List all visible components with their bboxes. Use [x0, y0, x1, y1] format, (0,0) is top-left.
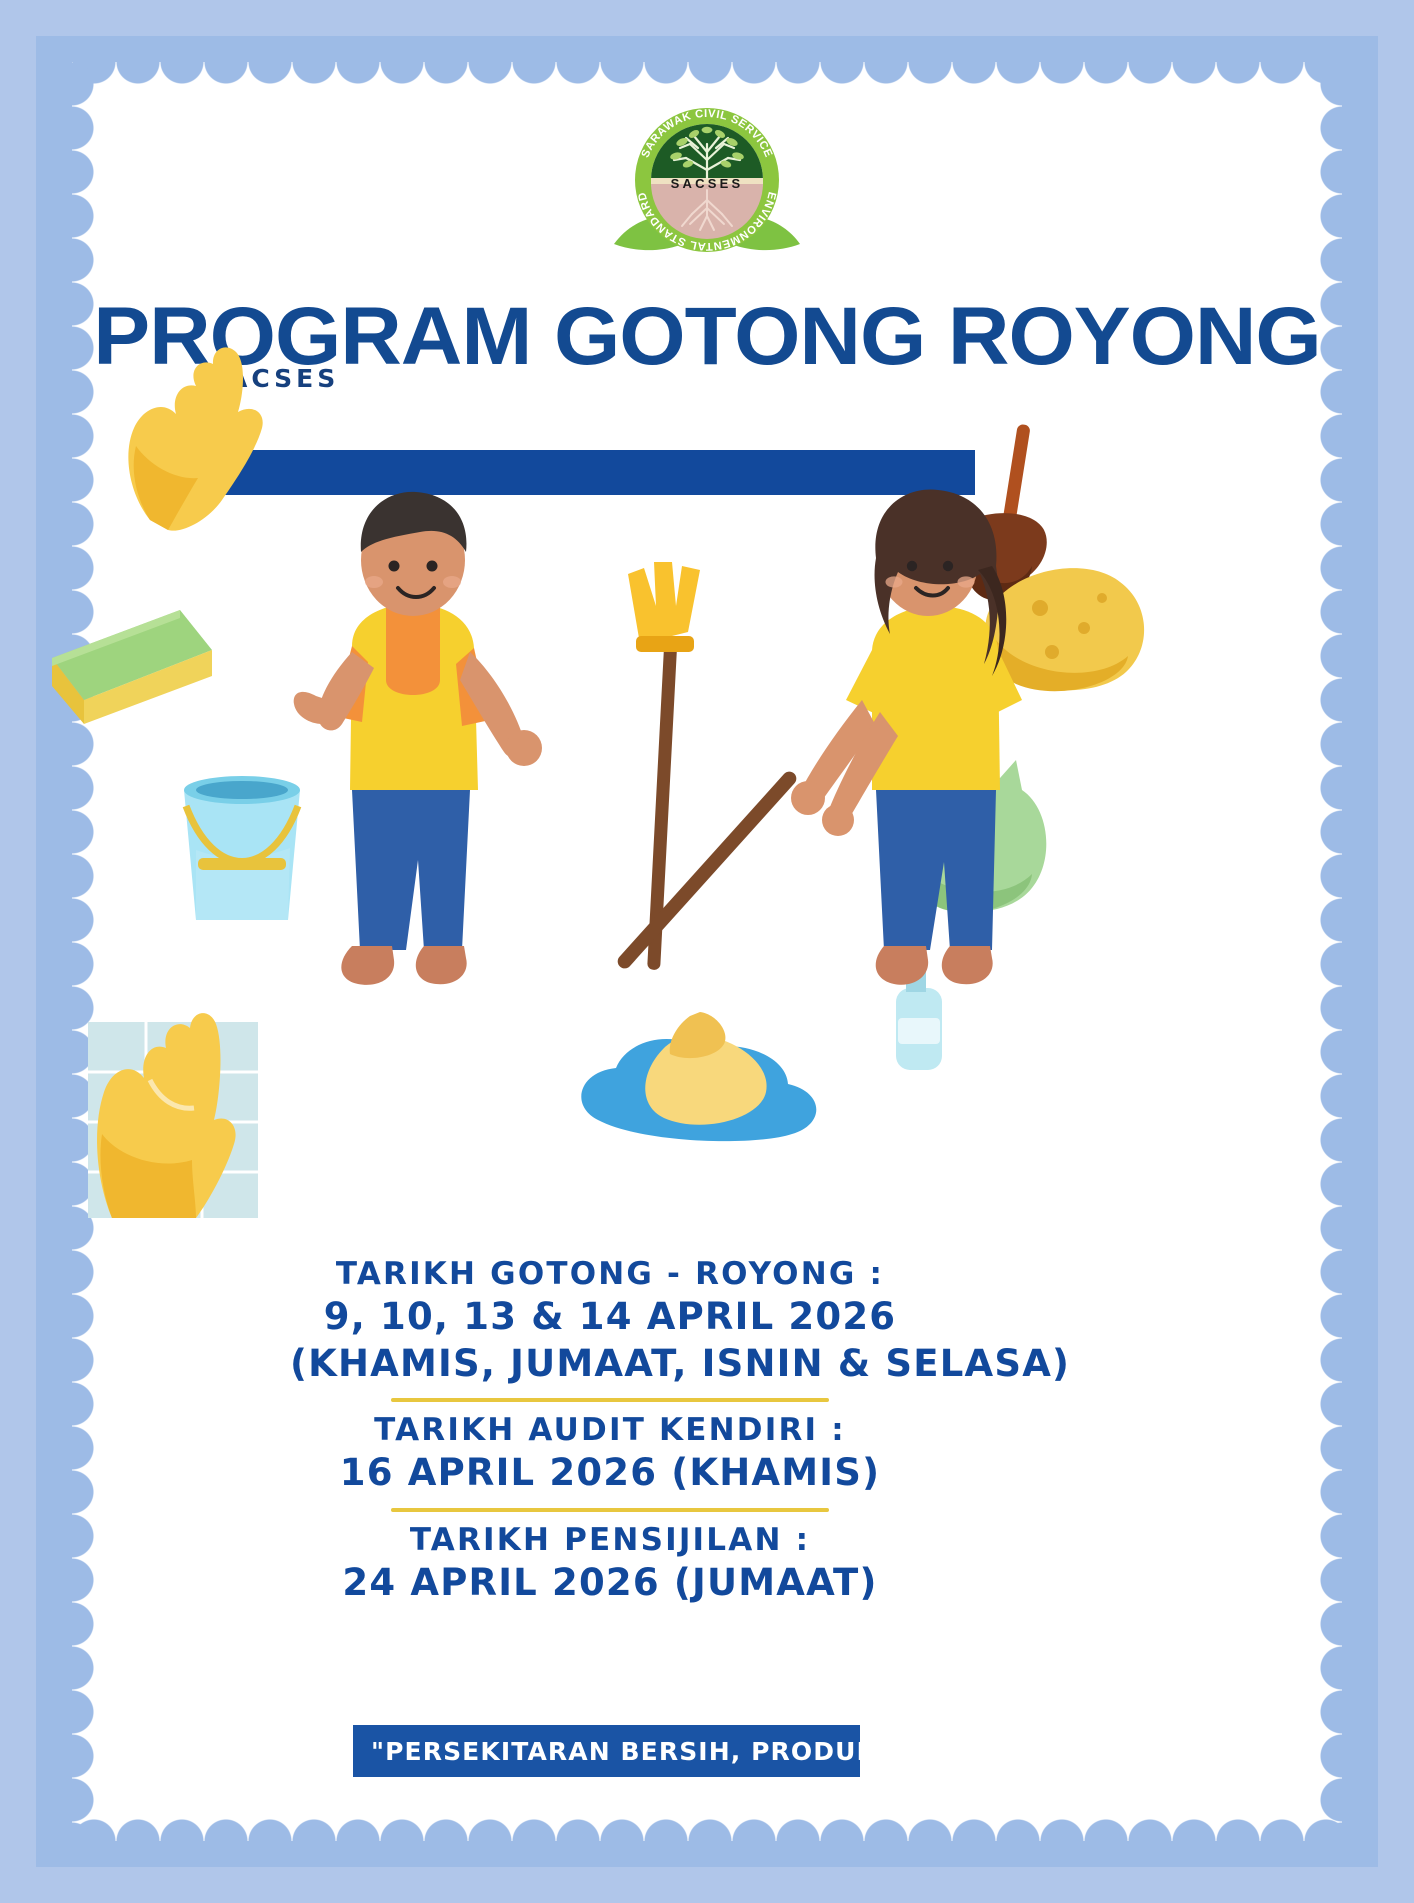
pensijilan-label: TARIKH PENSIJILAN :	[290, 1521, 930, 1560]
audit-label: TARIKH AUDIT KENDIRI :	[290, 1411, 930, 1450]
sacses-logo: SACSES SARAWAK CIVIL SERVICE ENVIRONMENT…	[602, 104, 812, 264]
logo-center-text: SACSES	[671, 176, 744, 191]
pensijilan-date: 24 APRIL 2026 (JUMAAT)	[290, 1560, 930, 1607]
gotong-royong-date: 9, 10, 13 & 14 APRIL 2026	[290, 1294, 930, 1341]
divider-rule-2	[391, 1508, 829, 1512]
page-subtitle: SACSES	[206, 364, 339, 393]
title-blue-bar	[200, 450, 975, 495]
slogan-banner: "PERSEKITARAN BERSIH, PRODUKTIVITI MENIN…	[353, 1725, 860, 1777]
slogan-text: "PERSEKITARAN BERSIH, PRODUKTIVITI MENIN…	[353, 1737, 860, 1766]
divider-rule-1	[391, 1398, 829, 1402]
gotong-royong-days: (KHAMIS, JUMAAT, ISNIN & SELASA)	[290, 1341, 930, 1388]
gotong-royong-label: TARIKH GOTONG - ROYONG :	[290, 1255, 930, 1294]
info-block: TARIKH GOTONG - ROYONG : 9, 10, 13 & 14 …	[290, 1255, 930, 1607]
audit-date: 16 APRIL 2026 (KHAMIS)	[290, 1450, 930, 1497]
poster-canvas: SACSES SARAWAK CIVIL SERVICE ENVIRONMENT…	[0, 0, 1414, 1903]
